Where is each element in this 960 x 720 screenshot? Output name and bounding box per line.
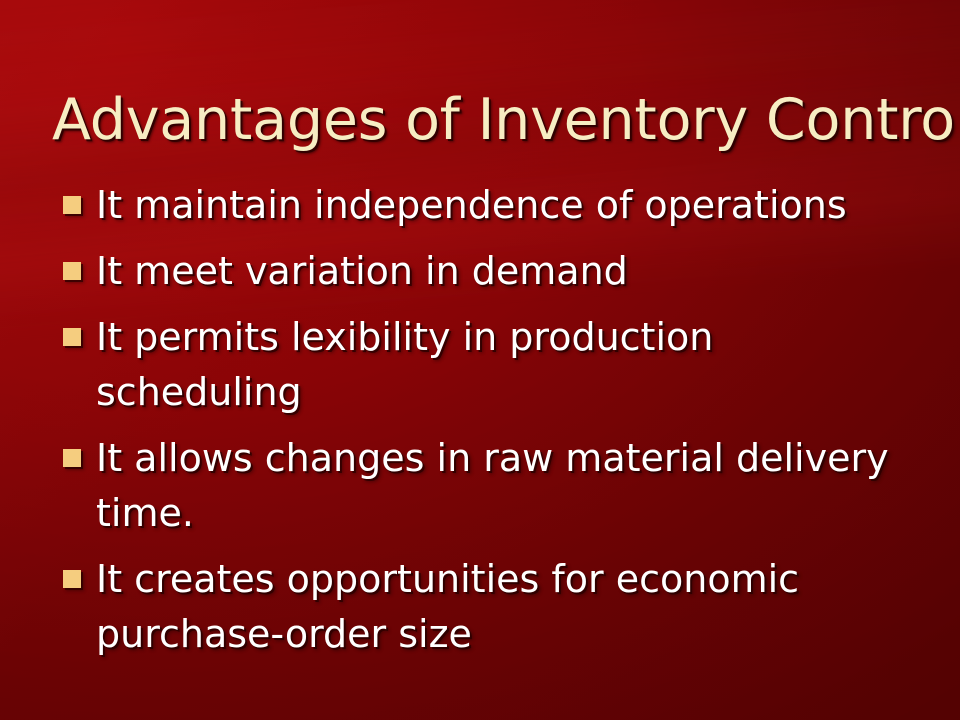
- square-bullet-icon: [63, 570, 81, 588]
- square-bullet-icon: [63, 262, 81, 280]
- presentation-slide: Advantages of Inventory Control It maint…: [0, 0, 960, 720]
- list-item-label: It permits lexibility in production sche…: [96, 310, 894, 420]
- list-item: It maintain independence of operations: [58, 178, 894, 233]
- square-bullet-icon: [63, 449, 81, 467]
- bullet-list: It maintain independence of operations I…: [58, 178, 894, 662]
- square-bullet-icon: [63, 328, 81, 346]
- list-item: It meet variation in demand: [58, 244, 894, 299]
- list-item-label: It creates opportunities for economic pu…: [96, 552, 894, 662]
- slide-content: Advantages of Inventory Control It maint…: [0, 0, 960, 720]
- list-item-label: It meet variation in demand: [96, 244, 894, 299]
- list-item: It permits lexibility in production sche…: [58, 310, 894, 420]
- list-item: It allows changes in raw material delive…: [58, 431, 894, 541]
- list-item-label: It maintain independence of operations: [96, 178, 894, 233]
- square-bullet-icon: [63, 196, 81, 214]
- slide-title: Advantages of Inventory Control: [52, 90, 918, 150]
- list-item: It creates opportunities for economic pu…: [58, 552, 894, 662]
- list-item-label: It allows changes in raw material delive…: [96, 431, 894, 541]
